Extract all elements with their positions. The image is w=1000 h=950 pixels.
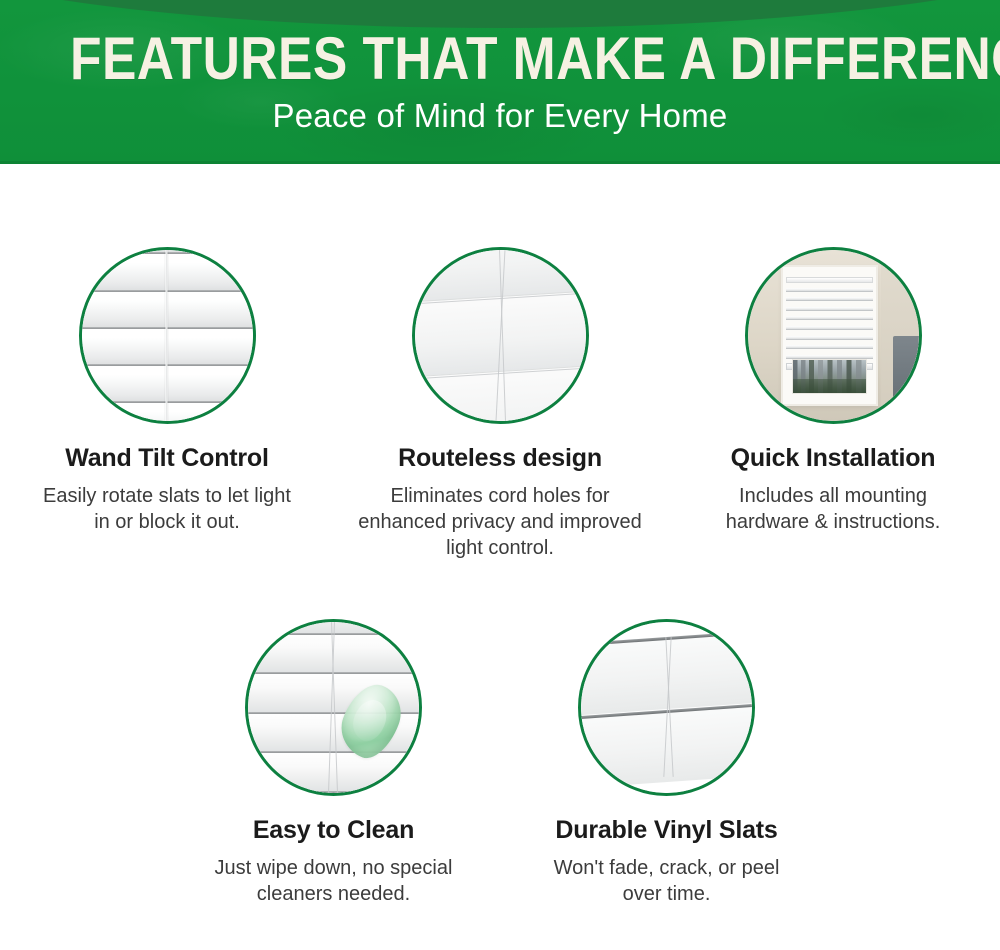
- blind-slats-wand-icon: [79, 247, 256, 424]
- blind-slats-cleaning-cloth-icon: [245, 619, 422, 796]
- feature-description: Includes all mounting hardware & instruc…: [702, 483, 964, 535]
- page-subtitle: Peace of Mind for Every Home: [0, 96, 1000, 136]
- vinyl-slat-closeup-icon: [578, 619, 755, 796]
- features-row-2: Easy to Clean Just wipe down, no special…: [0, 561, 1000, 907]
- header-banner: FEATURES THAT MAKE A DIFFERENCE Peace of…: [0, 0, 1000, 164]
- feature-description: Just wipe down, no special cleaners need…: [203, 855, 465, 907]
- feature-description: Eliminates cord holes for enhanced priva…: [345, 483, 655, 561]
- feature-wand-tilt-control: Wand Tilt Control Easily rotate slats to…: [1, 247, 334, 535]
- feature-title: Routeless design: [398, 443, 602, 473]
- feature-easy-to-clean: Easy to Clean Just wipe down, no special…: [167, 619, 500, 907]
- feature-title: Quick Installation: [731, 443, 936, 473]
- feature-highlights-page: FEATURES THAT MAKE A DIFFERENCE Peace of…: [0, 0, 1000, 950]
- feature-description: Easily rotate slats to let light in or b…: [36, 483, 298, 535]
- feature-title: Durable Vinyl Slats: [555, 815, 777, 845]
- banner-content: FEATURES THAT MAKE A DIFFERENCE Peace of…: [0, 0, 1000, 136]
- page-title: FEATURES THAT MAKE A DIFFERENCE: [70, 28, 930, 90]
- routeless-slat-closeup-icon: [412, 247, 589, 424]
- features-grid: Wand Tilt Control Easily rotate slats to…: [0, 164, 1000, 907]
- features-row-1: Wand Tilt Control Easily rotate slats to…: [0, 164, 1000, 561]
- feature-durable-vinyl-slats: Durable Vinyl Slats Won't fade, crack, o…: [500, 619, 833, 907]
- feature-title: Easy to Clean: [253, 815, 414, 845]
- installed-window-blind-icon: [745, 247, 922, 424]
- feature-title: Wand Tilt Control: [65, 443, 269, 473]
- feature-routeless-design: Routeless design Eliminates cord holes f…: [334, 247, 667, 561]
- feature-quick-installation: Quick Installation Includes all mounting…: [667, 247, 1000, 535]
- feature-description: Won't fade, crack, or peel over time.: [536, 855, 798, 907]
